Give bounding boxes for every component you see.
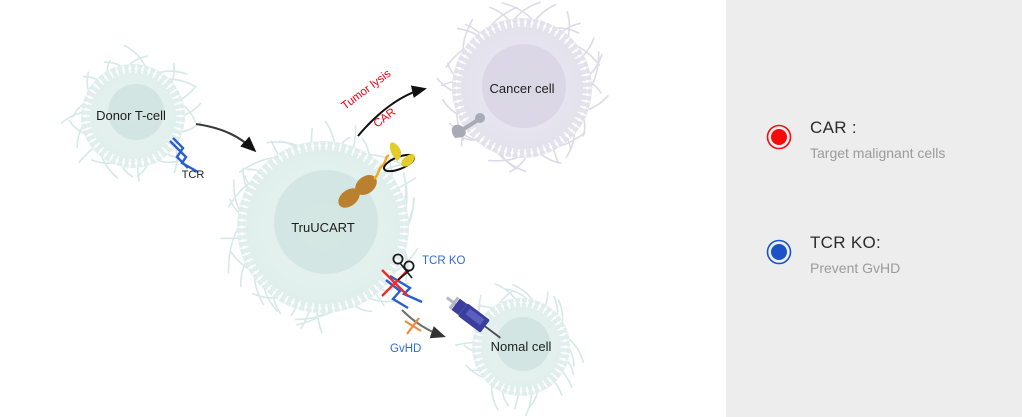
cancer-cell-label: Cancer cell: [489, 81, 554, 96]
cancer-cell: Cancer cell: [437, 2, 608, 172]
legend-title-car: CAR :: [810, 118, 945, 138]
legend-title-tcr-ko: TCR KO:: [810, 233, 900, 253]
tcr-ko-group: TCR KO: [382, 254, 466, 308]
diagram-root: Donor T-cell TCR TruUCART: [0, 0, 1022, 417]
antigen-knob: [475, 113, 485, 123]
tumor-lysis-arrow-group: Tumor lysis CAR: [340, 68, 424, 136]
car-bullet-icon: [766, 124, 792, 150]
diagram-panel: Donor T-cell TCR TruUCART: [0, 0, 726, 417]
tumor-lysis-label: Tumor lysis: [340, 68, 394, 113]
truucart-label: TruUCART: [291, 220, 355, 235]
cell-diagram-svg: Donor T-cell TCR TruUCART: [0, 0, 726, 417]
legend-subtitle-tcr-ko: Prevent GvHD: [810, 260, 900, 276]
normal-cell: Nomal cell: [456, 284, 584, 415]
tcr-ko-label: TCR KO: [422, 255, 466, 267]
legend-text-tcr-ko: TCR KO: Prevent GvHD: [810, 233, 900, 276]
legend-panel: CAR : Target malignant cells TCR KO: Pre…: [726, 0, 1022, 417]
tcr-ko-bullet-icon: [766, 239, 792, 265]
donor-t-cell-label: Donor T-cell: [96, 108, 166, 123]
legend-subtitle-car: Target malignant cells: [810, 145, 945, 161]
car-arrow-label: CAR: [372, 106, 399, 130]
tcr-donor-label: TCR: [182, 169, 205, 181]
car-arm-left: [390, 142, 401, 161]
truucart-cell: TruUCART: [221, 122, 418, 333]
donor-to-truucart-arrow: [196, 124, 254, 150]
gvhd-blocked-group: GvHD: [390, 310, 443, 355]
gvhd-label: GvHD: [390, 343, 421, 355]
legend-text-car: CAR : Target malignant cells: [810, 118, 945, 161]
normal-cell-label: Nomal cell: [491, 339, 552, 354]
